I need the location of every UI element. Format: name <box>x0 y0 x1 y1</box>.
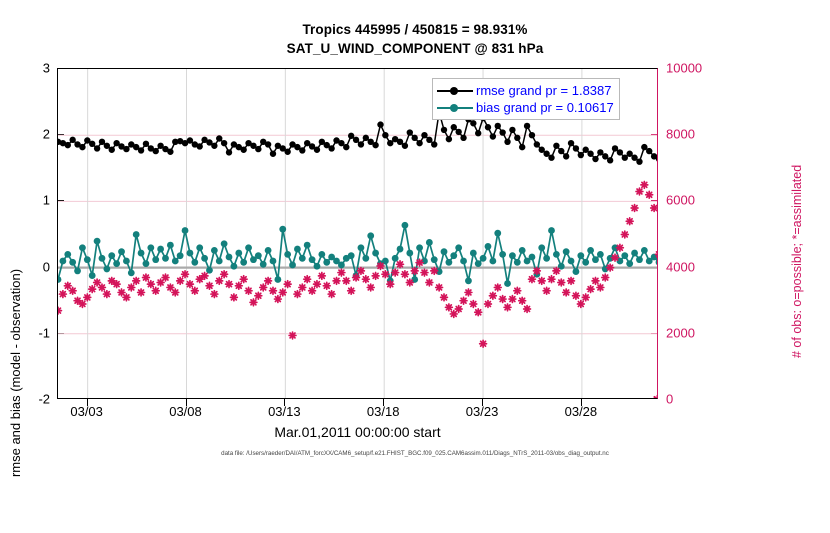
data-file-footer: data file: /Users/raeder/DAI/ATM_forcXX/… <box>0 450 830 457</box>
legend-marker-dot <box>450 104 458 112</box>
y-tick-left-0: 0 <box>4 259 50 274</box>
legend-marker-dot <box>450 87 458 95</box>
y-tick-left-3: 3 <box>4 61 50 76</box>
y-axis-right-label: # of obs: o=possible; *=assimilated <box>790 165 804 358</box>
y-tick-left-2: 2 <box>4 127 50 142</box>
x-tick-03-03: 03/03 <box>52 404 122 419</box>
legend-label: rmse grand pr = 1.8387 <box>476 83 612 98</box>
title-line-2: SAT_U_WIND_COMPONENT @ 831 hPa <box>0 39 830 58</box>
x-tick-03-08: 03/08 <box>151 404 221 419</box>
y-tick-left--2: -2 <box>4 392 50 407</box>
y-tick-right-0: 0 <box>666 392 726 407</box>
x-tick-03-23: 03/23 <box>447 404 517 419</box>
y-tick-left-1: 1 <box>4 193 50 208</box>
chart-title: Tropics 445995 / 450815 = 98.931% SAT_U_… <box>0 20 830 58</box>
x-tickmark <box>186 399 187 406</box>
chart-page: Tropics 445995 / 450815 = 98.931% SAT_U_… <box>0 0 830 470</box>
x-tick-03-18: 03/18 <box>348 404 418 419</box>
chart-legend[interactable]: rmse grand pr = 1.8387bias grand pr = 0.… <box>432 78 620 120</box>
y-tick-right-6000: 6000 <box>666 193 726 208</box>
y-tick-right-10000: 10000 <box>666 61 726 76</box>
y-tick-right-8000: 8000 <box>666 127 726 142</box>
title-line-1: Tropics 445995 / 450815 = 98.931% <box>0 20 830 39</box>
legend-label: bias grand pr = 0.10617 <box>476 100 614 115</box>
x-tickmark <box>383 399 384 406</box>
x-tickmark <box>581 399 582 406</box>
x-tickmark <box>87 399 88 406</box>
legend-item-rmse[interactable]: rmse grand pr = 1.8387 <box>437 82 614 99</box>
legend-item-bias[interactable]: bias grand pr = 0.10617 <box>437 99 614 116</box>
legend-line-sample <box>437 85 473 97</box>
x-tick-03-28: 03/28 <box>546 404 616 419</box>
x-tick-03-13: 03/13 <box>249 404 319 419</box>
legend-line-sample <box>437 102 473 114</box>
y-tick-left--1: -1 <box>4 325 50 340</box>
x-axis-label: Mar.01,2011 00:00:00 start <box>57 424 658 440</box>
y-tick-right-4000: 4000 <box>666 259 726 274</box>
x-tickmark <box>482 399 483 406</box>
x-tickmark <box>284 399 285 406</box>
y-tick-right-2000: 2000 <box>666 325 726 340</box>
